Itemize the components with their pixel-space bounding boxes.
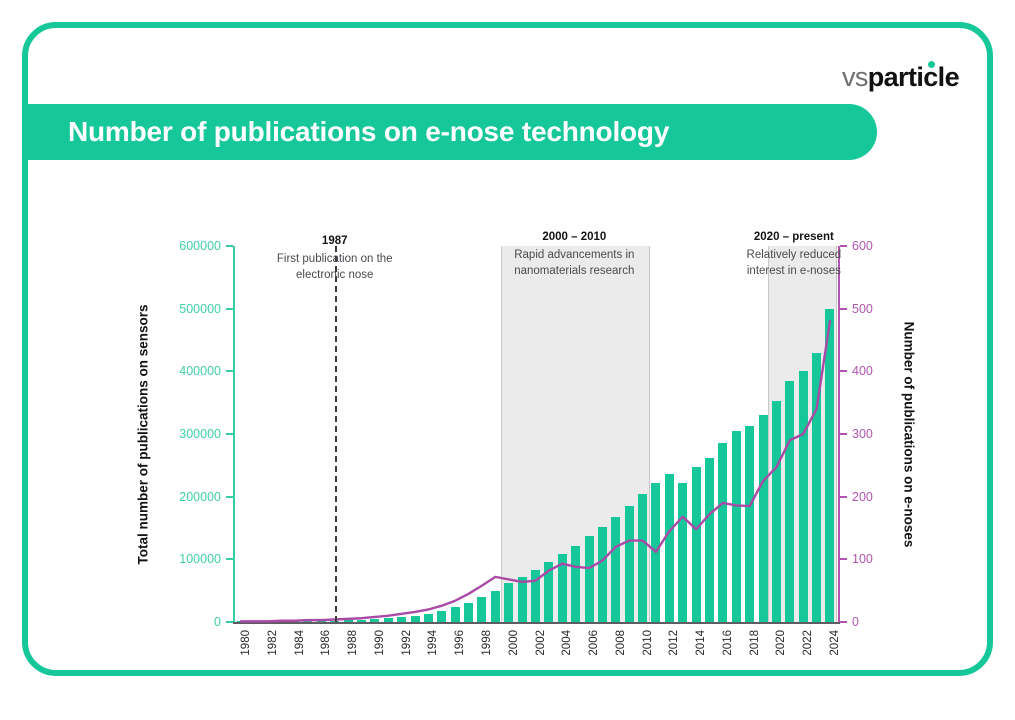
vsparticle-logo: vsparticle: [842, 62, 959, 93]
x-tick-label: 2010: [642, 630, 654, 656]
left-tick: [226, 558, 233, 560]
marker-1987-dashed-line: [335, 246, 337, 622]
x-tick-label: 1998: [481, 630, 493, 656]
right-tick: [840, 621, 847, 623]
x-tick-label: 2000: [508, 630, 520, 656]
annot-2020-present: 2020 – present Relatively reduced intere…: [686, 230, 902, 279]
x-tick-label: 1986: [320, 630, 332, 656]
annot-1987-line1: First publication on the: [277, 253, 393, 265]
x-tick-label: 2022: [802, 630, 814, 656]
publications-chart: Total number of publications on sensors …: [138, 206, 948, 666]
x-tick-label: 2016: [722, 630, 734, 656]
annot-2020-present-line1: Relatively reduced: [747, 249, 842, 261]
x-tick-label: 2012: [668, 630, 680, 656]
x-tick-label: 1996: [454, 630, 466, 656]
x-tick-label: 2002: [535, 630, 547, 656]
x-tick-label: 2024: [829, 630, 841, 656]
line-series: [233, 246, 838, 622]
right-tick: [840, 496, 847, 498]
left-tick: [226, 433, 233, 435]
right-tick: [840, 558, 847, 560]
left-tick: [226, 621, 233, 623]
left-tick-label: 300000: [179, 427, 221, 441]
x-tick-label: 2020: [775, 630, 787, 656]
left-tick: [226, 370, 233, 372]
annot-1987-line2: electronic nose: [296, 269, 373, 281]
right-tick-label: 100: [852, 552, 873, 566]
x-axis-line: [233, 622, 840, 624]
page-title: Number of publications on e-nose technol…: [22, 116, 669, 148]
logo-text-bold: particle: [868, 62, 959, 92]
right-tick-label: 300: [852, 427, 873, 441]
annot-2000-2010-line2: nanomaterials research: [514, 265, 634, 277]
left-tick: [226, 308, 233, 310]
annot-1987-heading: 1987: [227, 234, 443, 249]
x-tick-label: 2014: [695, 630, 707, 656]
right-axis-title: Number of publications on e-noses: [900, 246, 918, 622]
left-tick-label: 100000: [179, 552, 221, 566]
e-nose-line: [241, 321, 830, 621]
x-tick-label: 1994: [427, 630, 439, 656]
left-tick-label: 200000: [179, 490, 221, 504]
poster-card: vsparticle Number of publications on e-n…: [22, 22, 993, 676]
annot-2000-2010-heading: 2000 – 2010: [466, 230, 682, 245]
right-tick-label: 0: [852, 615, 859, 629]
left-tick-label: 600000: [179, 239, 221, 253]
x-tick-label: 2008: [615, 630, 627, 656]
right-tick-label: 200: [852, 490, 873, 504]
right-tick: [840, 433, 847, 435]
right-tick: [840, 370, 847, 372]
right-tick: [840, 308, 847, 310]
left-tick-label: 400000: [179, 364, 221, 378]
x-tick-label: 2004: [561, 630, 573, 656]
annot-1987: 1987 First publication on the electronic…: [227, 234, 443, 283]
left-tick: [226, 496, 233, 498]
x-tick-label: 1992: [401, 630, 413, 656]
left-axis-title: Total number of publications on sensors: [134, 246, 152, 622]
logo-dot-icon: [928, 61, 935, 68]
left-tick-label: 0: [214, 615, 221, 629]
annot-2000-2010: 2000 – 2010 Rapid advancements in nanoma…: [466, 230, 682, 279]
x-tick-label: 1988: [347, 630, 359, 656]
x-tick-label: 2018: [749, 630, 761, 656]
x-tick-label: 1990: [374, 630, 386, 656]
x-tick-label: 2006: [588, 630, 600, 656]
plot-area: [233, 246, 838, 622]
x-tick-label: 1984: [294, 630, 306, 656]
logo-word: particle: [868, 62, 959, 92]
x-tick-label: 1982: [267, 630, 279, 656]
logo-text-light: vs: [842, 62, 868, 92]
left-tick-label: 500000: [179, 302, 221, 316]
title-banner: Number of publications on e-nose technol…: [22, 104, 877, 160]
annot-2020-present-line2: interest in e-noses: [747, 265, 841, 277]
annot-2020-present-heading: 2020 – present: [686, 230, 902, 245]
right-tick-label: 500: [852, 302, 873, 316]
right-tick-label: 400: [852, 364, 873, 378]
annot-2000-2010-line1: Rapid advancements in: [514, 249, 634, 261]
x-tick-label: 1980: [240, 630, 252, 656]
